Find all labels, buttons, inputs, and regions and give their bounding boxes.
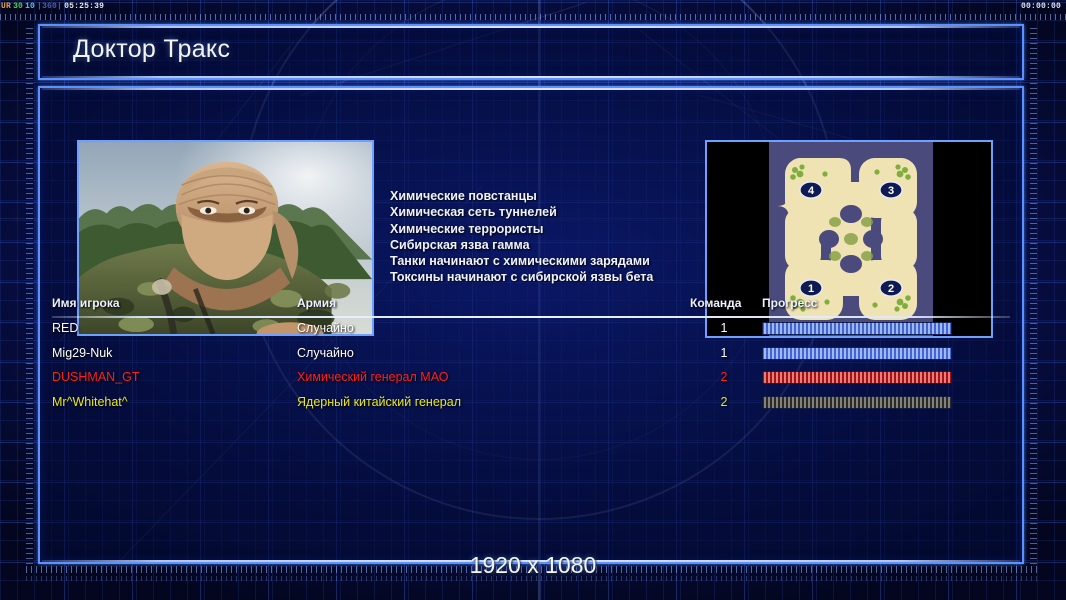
player-team: 1: [712, 321, 736, 335]
player-progress-bar: [762, 347, 952, 360]
status-seg-1: 30: [12, 0, 24, 13]
header-panel-bottom-highlight: [42, 76, 1020, 78]
status-seg-clock: 05:25:39: [63, 0, 105, 13]
status-bar: UR3010|360|05:25:39 00:00:00: [0, 0, 1066, 13]
main-frame: Доктор Тракс: [38, 24, 1024, 564]
player-table: Имя игрока Армия Команда Прогресс RED Сл…: [52, 296, 1010, 416]
page-title: Доктор Тракс: [73, 35, 230, 64]
player-progress-bar: [762, 371, 952, 384]
svg-text:1: 1: [808, 283, 814, 295]
status-seg-2: 10: [24, 0, 36, 13]
header-panel-top-highlight: [42, 26, 1020, 28]
player-team: 1: [712, 346, 736, 360]
header-panel: Доктор Тракс: [38, 24, 1024, 80]
status-seg-3: |360|: [36, 0, 63, 13]
player-army: Случайно: [297, 321, 354, 335]
resolution-label: 1920 x 1080: [0, 552, 1066, 579]
body-panel: Химические повстанцы Химическая сеть тун…: [38, 86, 1024, 564]
description-line-3: Сибирская язва гамма: [390, 237, 720, 253]
ruler-right: [1030, 24, 1037, 564]
column-header-player: Имя игрока: [52, 296, 120, 310]
player-table-header: Имя игрока Армия Команда Прогресс: [52, 296, 1010, 318]
player-team: 2: [712, 395, 736, 409]
player-army: Химический генерал МАО: [297, 370, 448, 384]
description-line-5: Токсины начинают с сибирской язвы бета: [390, 269, 720, 285]
player-army: Ядерный китайский генерал: [297, 395, 461, 409]
player-name: RED: [52, 321, 78, 335]
table-row[interactable]: Mig29-Nuk Случайно 1: [52, 343, 1010, 368]
description-line-1: Химическая сеть туннелей: [390, 204, 720, 220]
player-name: Mig29-Nuk: [52, 346, 112, 360]
svg-text:3: 3: [888, 185, 894, 197]
description-line-0: Химические повстанцы: [390, 188, 720, 204]
player-progress-bar: [762, 396, 952, 409]
body-panel-top-highlight: [42, 88, 1020, 90]
player-name: DUSHMAN_GT: [52, 370, 140, 384]
column-header-team: Команда: [690, 296, 741, 310]
column-header-progress: Прогресс: [762, 296, 817, 310]
ruler-left: [26, 24, 33, 564]
player-name: Mr^Whitehat^: [52, 395, 128, 409]
player-army: Случайно: [297, 346, 354, 360]
status-seg-0: UR: [0, 0, 12, 13]
player-team: 2: [712, 370, 736, 384]
description-line-4: Танки начинают с химическими зарядами: [390, 253, 720, 269]
column-header-army: Армия: [297, 296, 336, 310]
table-row[interactable]: DUSHMAN_GT Химический генерал МАО 2: [52, 367, 1010, 392]
player-progress-bar: [762, 322, 952, 335]
svg-text:4: 4: [808, 185, 815, 197]
general-description: Химические повстанцы Химическая сеть тун…: [390, 188, 720, 286]
status-bar-clock: 00:00:00: [1021, 0, 1061, 13]
svg-text:2: 2: [888, 283, 894, 295]
description-line-2: Химические террористы: [390, 221, 720, 237]
ruler-top: [0, 14, 1066, 20]
table-row[interactable]: RED Случайно 1: [52, 318, 1010, 343]
table-row[interactable]: Mr^Whitehat^ Ядерный китайский генерал 2: [52, 392, 1010, 417]
